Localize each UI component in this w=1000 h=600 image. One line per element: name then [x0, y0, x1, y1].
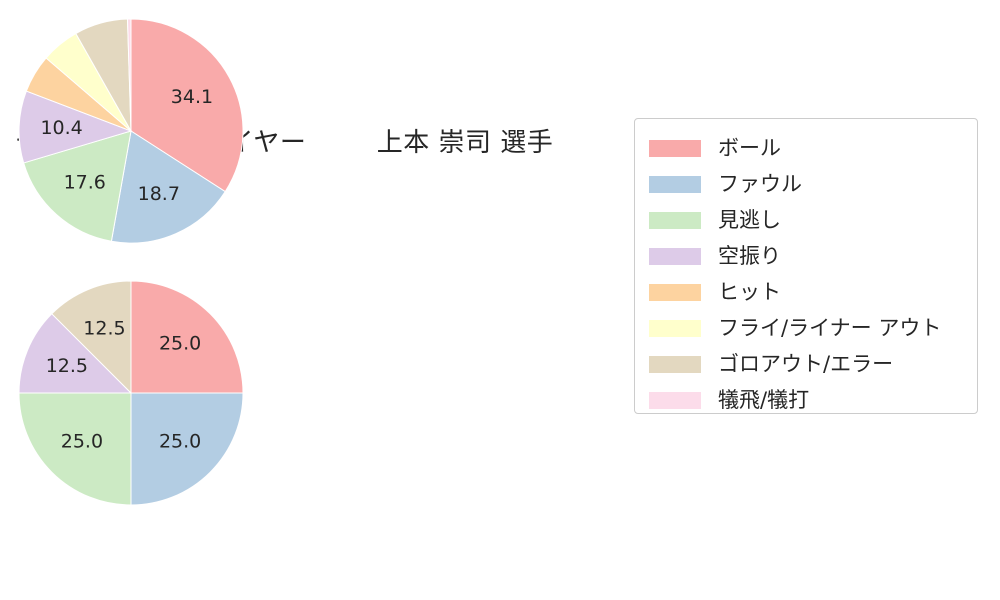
legend-item[interactable]: ボール: [649, 130, 963, 166]
pie-slice-value-label: 12.5: [83, 317, 125, 339]
legend-item-label: ファウル: [718, 174, 802, 195]
legend-item-label: ゴロアウト/エラー: [718, 354, 893, 375]
pie-slice-value-label: 10.4: [40, 117, 82, 139]
legend-item-label: 空振り: [718, 246, 781, 267]
legend-item[interactable]: フライ/ライナー アウト: [649, 310, 963, 346]
pie-slice-value-label: 34.1: [171, 86, 213, 108]
pie-slice-value-label: 25.0: [159, 332, 201, 354]
right-chart-title: 上本 崇司 選手: [325, 122, 605, 159]
legend-item[interactable]: ファウル: [649, 166, 963, 202]
legend-color-swatch: [649, 212, 701, 229]
legend-item-label: 見逃し: [718, 210, 781, 231]
legend-color-swatch: [649, 392, 701, 409]
legend-item[interactable]: 空振り: [649, 238, 963, 274]
right-pie-chart: 25.025.025.012.512.5: [0, 262, 262, 524]
pie-slices: [19, 281, 243, 505]
left-pie-svg: 34.118.717.610.4: [0, 0, 262, 262]
legend-item-label: ヒット: [718, 282, 781, 303]
pie-slice-value-label: 18.7: [138, 183, 180, 205]
legend: ボールファウル見逃し空振りヒットフライ/ライナー アウトゴロアウト/エラー犠飛/…: [634, 118, 978, 414]
legend-item[interactable]: 犠飛/犠打: [649, 382, 963, 418]
pie-slice-value-label: 17.6: [64, 171, 106, 193]
chart-canvas: セ・リーグ全プレイヤー 34.118.717.610.4 上本 崇司 選手 25…: [0, 0, 1000, 600]
legend-color-swatch: [649, 356, 701, 373]
legend-item-label: 犠飛/犠打: [718, 390, 809, 411]
legend-color-swatch: [649, 248, 701, 265]
right-pie-svg: 25.025.025.012.512.5: [0, 262, 262, 524]
left-pie-chart: 34.118.717.610.4: [0, 0, 262, 262]
legend-color-swatch: [649, 320, 701, 337]
legend-item-label: ボール: [718, 138, 781, 159]
pie-slice-value-label: 25.0: [61, 431, 103, 453]
legend-color-swatch: [649, 140, 701, 157]
pie-slice-value-label: 12.5: [46, 355, 88, 377]
legend-item[interactable]: ゴロアウト/エラー: [649, 346, 963, 382]
pie-slice-value-label: 25.0: [159, 431, 201, 453]
legend-color-swatch: [649, 176, 701, 193]
legend-item[interactable]: 見逃し: [649, 202, 963, 238]
legend-item[interactable]: ヒット: [649, 274, 963, 310]
legend-item-label: フライ/ライナー アウト: [718, 318, 941, 339]
legend-color-swatch: [649, 284, 701, 301]
